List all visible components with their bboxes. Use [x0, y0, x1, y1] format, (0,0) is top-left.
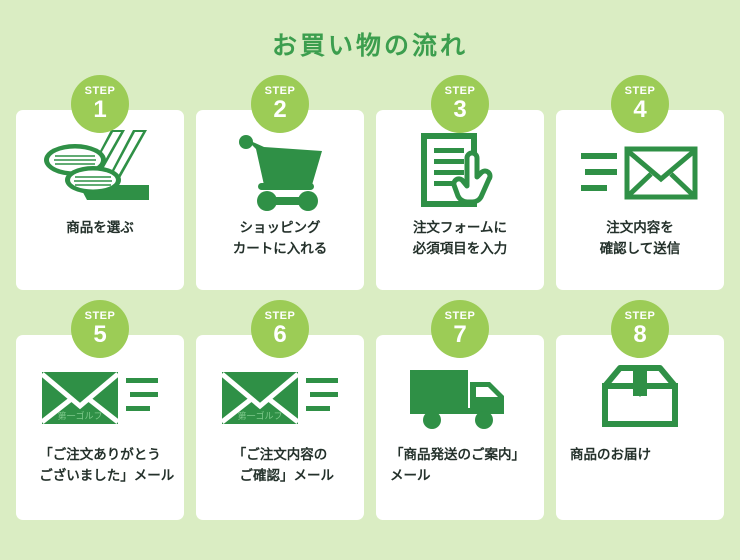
envelope-brand-label: 第一ゴルフ: [237, 410, 282, 421]
step-card-6[interactable]: STEP 6 第一ゴルフ 「ご注文内容の ご確認」メール: [196, 335, 364, 520]
step-badge-number: 8: [633, 323, 646, 347]
step-card-7[interactable]: STEP 7 「商品発送のご案内」 メール: [376, 335, 544, 520]
order-form-hand-icon: [421, 133, 499, 213]
step-badge-number: 3: [453, 98, 466, 122]
step-badge-8: STEP 8: [611, 300, 669, 358]
step-badge-number: 1: [93, 98, 106, 122]
step-badge-number: 4: [633, 98, 646, 122]
step-card-8[interactable]: STEP 8 商品のお届け: [556, 335, 724, 520]
step-caption-1: 商品を選ぶ: [60, 218, 140, 239]
step-card-4[interactable]: STEP 4 注文内容を 確認して送信: [556, 110, 724, 290]
step-caption-2: ショッピング カートに入れる: [227, 218, 334, 260]
speed-lines-icon: [306, 378, 338, 411]
step-card-1[interactable]: STEP 1: [16, 110, 184, 290]
step-badge-1: STEP 1: [71, 75, 129, 133]
shopping-flow-infographic: お買い物の流れ STEP 1: [0, 0, 740, 560]
delivery-truck-icon: [408, 364, 512, 430]
step-badge-2: STEP 2: [251, 75, 309, 133]
step-card-2[interactable]: STEP 2 ショッピング カートに入れる: [196, 110, 364, 290]
step-caption-6: 「ご注文内容の ご確認」メール: [220, 445, 340, 487]
step-card-5[interactable]: STEP 5 第一ゴルフ 「ご注文ありがとう ございました」メール: [16, 335, 184, 520]
step-caption-4: 注文内容を 確認して送信: [594, 218, 687, 260]
step-badge-7: STEP 7: [431, 300, 489, 358]
step-badge-6: STEP 6: [251, 300, 309, 358]
step-badge-number: 5: [93, 323, 106, 347]
package-box-icon: [600, 364, 680, 430]
speed-lines-icon: [126, 378, 158, 411]
shopping-cart-icon: [234, 133, 326, 213]
step-badge-4: STEP 4: [611, 75, 669, 133]
received-mail-icon: 第一ゴルフ: [220, 366, 340, 428]
envelope-brand-label: 第一ゴルフ: [57, 410, 102, 421]
step-caption-3: 注文フォームに 必須項目を入力: [407, 218, 514, 260]
step-caption-7: 「商品発送のご案内」 メール: [376, 445, 544, 487]
step-caption-8: 商品のお届け: [556, 445, 724, 466]
send-mail-icon: [581, 143, 699, 203]
step-badge-number: 6: [273, 323, 286, 347]
step-badge-5: STEP 5: [71, 300, 129, 358]
step-card-3[interactable]: STEP 3 注文フォームに 必須項目を入力: [376, 110, 544, 290]
step-caption-5: 「ご注文ありがとう ございました」メール: [20, 445, 181, 487]
received-mail-icon: 第一ゴルフ: [40, 366, 160, 428]
golf-clubs-icon: [41, 130, 159, 216]
step-badge-number: 2: [273, 98, 286, 122]
speed-lines-icon: [581, 153, 617, 191]
steps-grid: STEP 1: [16, 110, 724, 520]
step-badge-3: STEP 3: [431, 75, 489, 133]
page-title: お買い物の流れ: [0, 26, 740, 62]
step-badge-number: 7: [453, 323, 466, 347]
